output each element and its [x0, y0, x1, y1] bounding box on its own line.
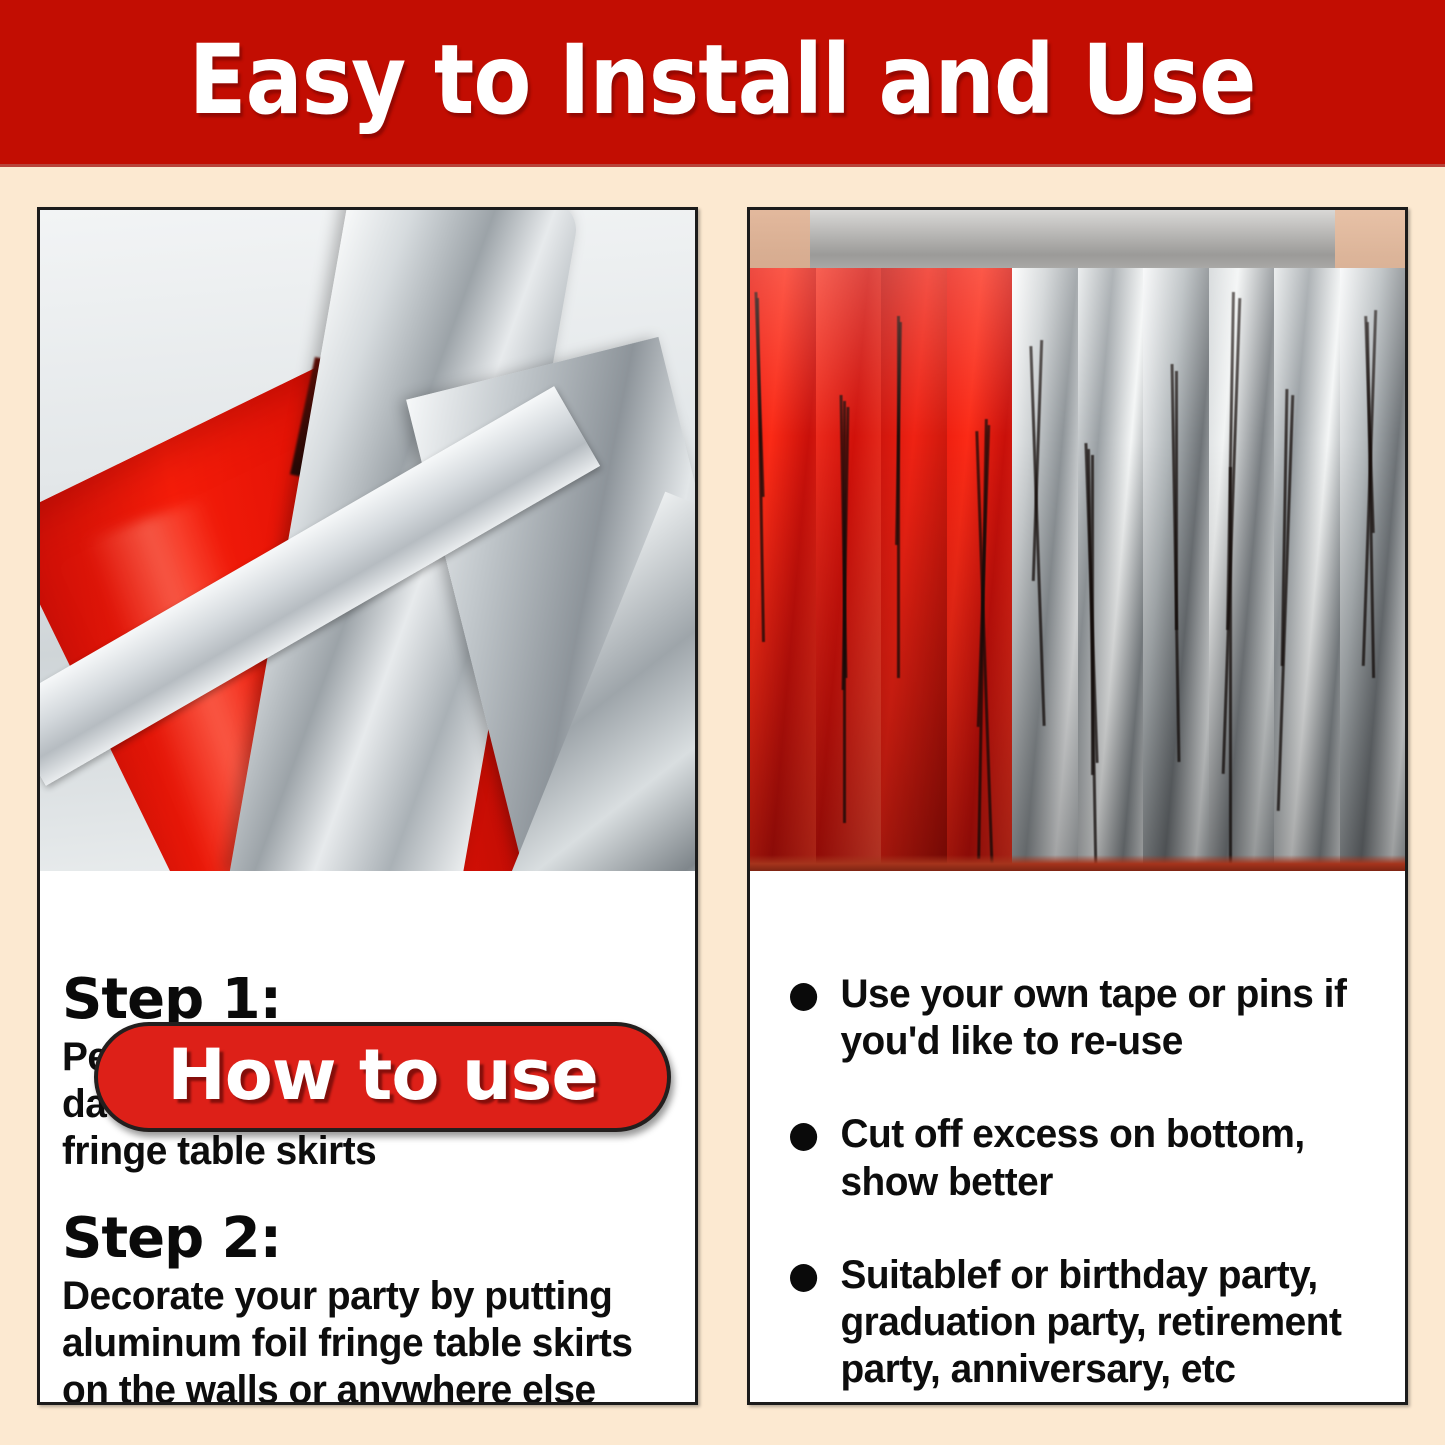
fringe-cut-line: [841, 407, 849, 690]
fringe-cut-line: [1175, 371, 1178, 630]
fringe-strip-silver: [1274, 268, 1340, 871]
fringe-cut-line: [756, 298, 765, 642]
fringe-cut-line: [1281, 389, 1289, 666]
fringe-bottom-edge: [750, 855, 1405, 871]
fringe-cut-line: [840, 395, 848, 678]
fringe-strip-red: [947, 268, 1013, 871]
fringe-cut-line: [1091, 455, 1094, 775]
fringe-cut-line: [1227, 292, 1236, 630]
product-infographic: Easy to Install and Use How to use Step …: [0, 0, 1445, 1445]
fringe-strip-red: [816, 268, 882, 871]
fringe-strip-silver: [1209, 268, 1275, 871]
step-1-heading: Step 1:: [62, 971, 673, 1028]
fringe-cut-line: [1361, 310, 1376, 666]
fringe-cut-line: [754, 292, 764, 497]
fringe-cut-line: [1277, 395, 1295, 811]
fringe-cut-line: [1366, 322, 1375, 678]
fringe-strip-red: [750, 268, 816, 871]
panel-use-tips: Use tips Use your own tape or pins if yo…: [747, 207, 1408, 1405]
fringe-cut-line: [1171, 364, 1181, 762]
use-tips-list: Use your own tape or pins if you'd like …: [772, 971, 1383, 1393]
page-title: Easy to Install and Use: [189, 32, 1256, 128]
fringe-cut-line: [977, 419, 988, 859]
step-2-heading: Step 2:: [62, 1210, 673, 1267]
how-to-use-steps: Step 1: Peel off the double-side dadhesi…: [40, 871, 695, 1402]
fringe-cut-line: [1222, 298, 1242, 774]
fringe-cut-line: [975, 431, 993, 871]
how-to-use-photo: [40, 210, 695, 871]
fringe-strip-silver: [1012, 268, 1078, 871]
fringe-cut-line: [843, 401, 846, 823]
fringe-strip-silver: [1078, 268, 1144, 871]
list-item: Use your own tape or pins if you'd like …: [790, 971, 1361, 1065]
list-item: Cut off excess on bottom, show better: [790, 1111, 1361, 1205]
use-tips-list-container: Use your own tape or pins if you'd like …: [750, 871, 1405, 1402]
tip-text: Suitablef or birthday party, graduation …: [840, 1253, 1341, 1391]
fringe-cut-line: [1031, 340, 1042, 581]
fringe-cut-line: [1229, 467, 1232, 871]
step-2-body: Decorate your party by putting aluminum …: [62, 1273, 655, 1405]
fringe-cut-line: [895, 322, 902, 545]
fringe-cut-line: [1365, 316, 1376, 533]
bullet-icon: [790, 983, 817, 1011]
how-to-use-badge-label: How to use: [167, 1040, 598, 1110]
foil-roll-image: [40, 210, 695, 871]
panel-how-to-use: How to use Step 1: Peel off the double-s…: [37, 207, 698, 1405]
tip-text: Cut off excess on bottom, show better: [840, 1112, 1304, 1203]
fringe-strip-silver: [1143, 268, 1209, 871]
fringe-strip-red: [881, 268, 947, 871]
fringe-cut-line: [1087, 449, 1098, 871]
fringe-cut-line: [897, 316, 900, 678]
fringe-strips: [750, 268, 1405, 871]
bullet-icon: [790, 1264, 817, 1292]
fringe-cut-line: [1084, 443, 1098, 762]
fringe-strip-silver: [1340, 268, 1406, 871]
tip-text: Use your own tape or pins if you'd like …: [840, 972, 1346, 1063]
fringe-cut-line: [977, 425, 991, 726]
header-banner: Easy to Install and Use: [0, 0, 1445, 167]
bullet-icon: [790, 1123, 817, 1151]
fringe-cut-line: [1030, 346, 1046, 726]
list-item: Suitablef or birthday party, graduation …: [790, 1252, 1361, 1394]
how-to-use-badge: How to use: [94, 1022, 671, 1132]
fringe-curtain-image: [750, 210, 1405, 871]
use-tips-photo: [750, 210, 1405, 871]
